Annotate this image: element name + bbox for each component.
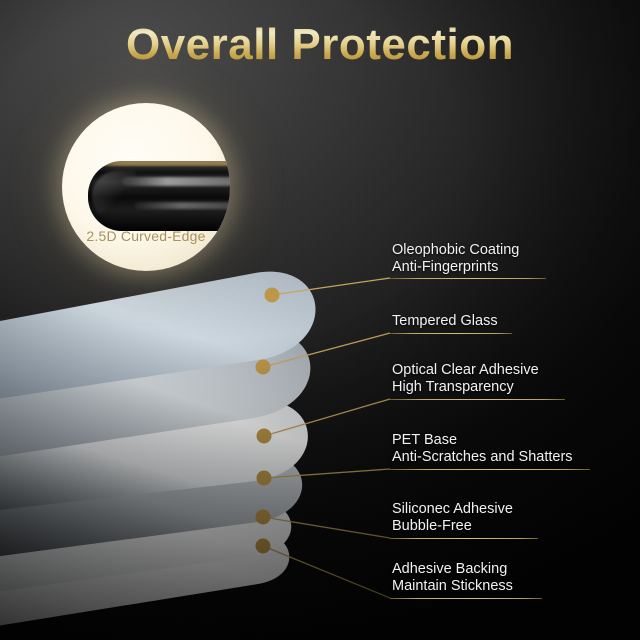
callout-line: Siliconec Adhesive <box>392 501 513 518</box>
callout-underline-tempered-glass <box>390 333 512 334</box>
callout-label-pet-base: PET BaseAnti-Scratches and Shatters <box>392 432 573 466</box>
edge-gloss-highlight-top <box>122 177 230 186</box>
inset-caption: 2.5D Curved-Edge <box>62 228 230 244</box>
callout-line: High Transparency <box>392 379 539 396</box>
callout-line: Adhesive Backing <box>392 561 513 578</box>
callout-line: Anti-Fingerprints <box>392 259 519 276</box>
callout-line: Oleophobic Coating <box>392 242 519 259</box>
edge-gloss-highlight-bottom <box>134 202 230 209</box>
callout-underline-pet-base <box>390 469 590 470</box>
callout-label-adhesive-backing: Adhesive BackingMaintain Stickness <box>392 561 513 595</box>
phone-edge-graphic <box>88 161 230 231</box>
screen-protector-layer-stack <box>0 0 640 640</box>
curved-edge-closeup: 2.5D Curved-Edge <box>62 103 230 271</box>
callout-underline-optical-clear-adhesive <box>390 399 565 400</box>
callout-label-siliconec-adhesive: Siliconec AdhesiveBubble-Free <box>392 501 513 535</box>
callout-line: Bubble-Free <box>392 518 513 535</box>
callout-underline-adhesive-backing <box>390 598 542 599</box>
callout-line: Anti-Scratches and Shatters <box>392 449 573 466</box>
page-title: Overall Protection <box>0 22 640 68</box>
callout-underline-oleophobic-coating <box>390 278 546 279</box>
callout-underline-siliconec-adhesive <box>390 538 538 539</box>
callout-line: Tempered Glass <box>392 313 498 330</box>
callout-label-oleophobic-coating: Oleophobic CoatingAnti-Fingerprints <box>392 242 519 276</box>
callout-label-optical-clear-adhesive: Optical Clear AdhesiveHigh Transparency <box>392 362 539 396</box>
product-infographic: Overall Protection 2.5D Curved-Edge Oleo… <box>0 0 640 640</box>
callout-label-tempered-glass: Tempered Glass <box>392 313 498 330</box>
callout-line: Optical Clear Adhesive <box>392 362 539 379</box>
layer-shapes <box>0 272 315 640</box>
callout-line: PET Base <box>392 432 573 449</box>
callout-line: Maintain Stickness <box>392 578 513 595</box>
